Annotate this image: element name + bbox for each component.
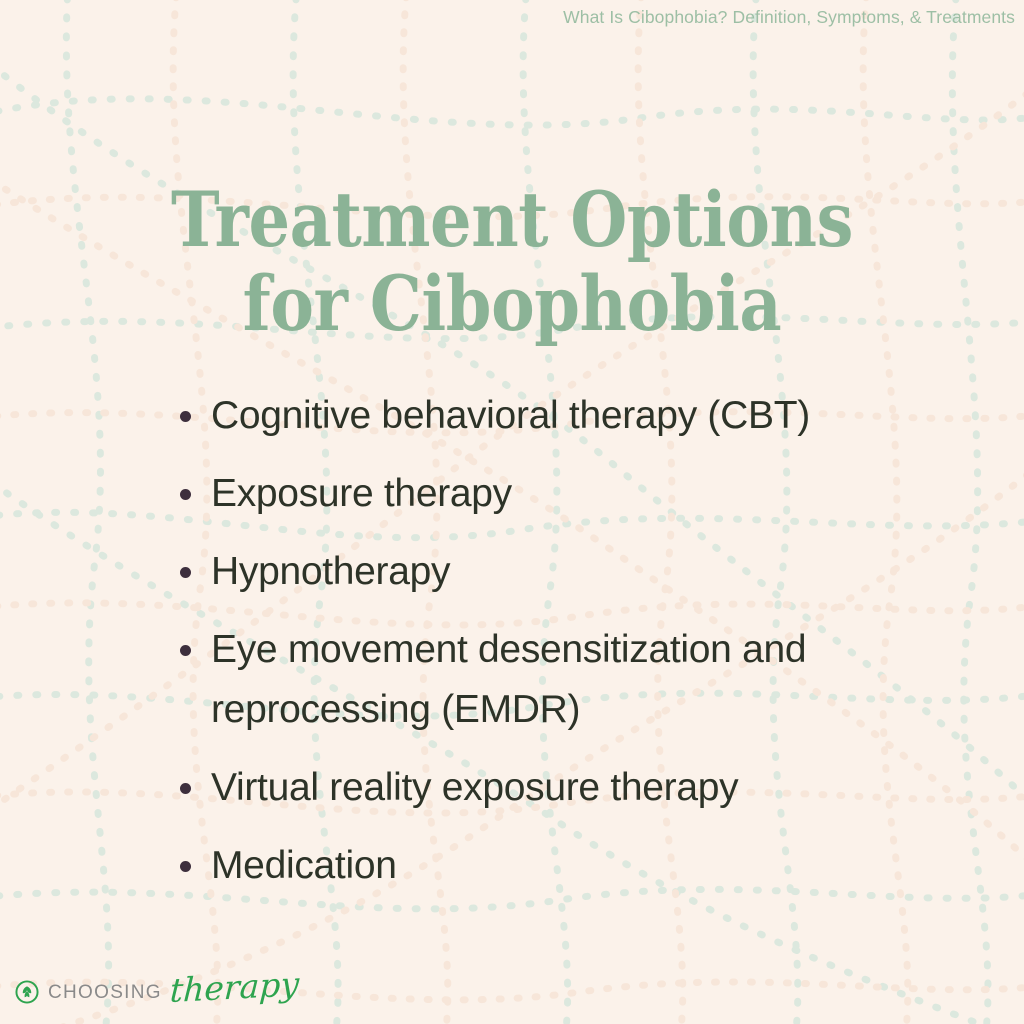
bullet-dot-icon (180, 783, 191, 794)
list-item-label: Hypnotherapy (211, 550, 450, 593)
list-item: Eye movement desensitization and reproce… (176, 620, 896, 740)
article-header-bar: What Is Cibophobia? Definition, Symptoms… (0, 0, 1024, 34)
logo-word-choosing: CHOOSING (48, 983, 162, 1002)
page-title-line-2: for Cibophobia (72, 262, 953, 346)
bullet-dot-icon (180, 411, 191, 422)
bullet-dot-icon (180, 489, 191, 500)
list-item-label: Eye movement desensitization and reproce… (211, 628, 806, 731)
article-title-text: What Is Cibophobia? Definition, Symptoms… (563, 7, 1015, 28)
list-item-label: Exposure therapy (211, 472, 512, 515)
list-item-label: Virtual reality exposure therapy (211, 766, 738, 809)
page-title: Treatment Options for Cibophobia (0, 178, 1024, 346)
list-item: Hypnotherapy (176, 542, 896, 602)
list-item: Cognitive behavioral therapy (CBT) (176, 386, 896, 446)
list-item-label: Cognitive behavioral therapy (CBT) (211, 394, 810, 437)
list-item: Virtual reality exposure therapy (176, 758, 896, 818)
bullet-dot-icon (180, 645, 191, 656)
list-item-label: Medication (211, 844, 397, 887)
brand-logo: CHOOSING therapy (14, 974, 299, 1010)
list-item: Exposure therapy (176, 464, 896, 524)
logo-word-therapy: therapy (169, 967, 300, 1007)
lotus-leaf-icon (14, 979, 40, 1005)
page-title-line-1: Treatment Options (72, 178, 953, 262)
infographic-slide: What Is Cibophobia? Definition, Symptoms… (0, 0, 1024, 1024)
treatment-options-list: Cognitive behavioral therapy (CBT) Expos… (176, 386, 896, 896)
list-item: Medication (176, 836, 896, 896)
bullet-dot-icon (180, 567, 191, 578)
bullet-dot-icon (180, 861, 191, 872)
